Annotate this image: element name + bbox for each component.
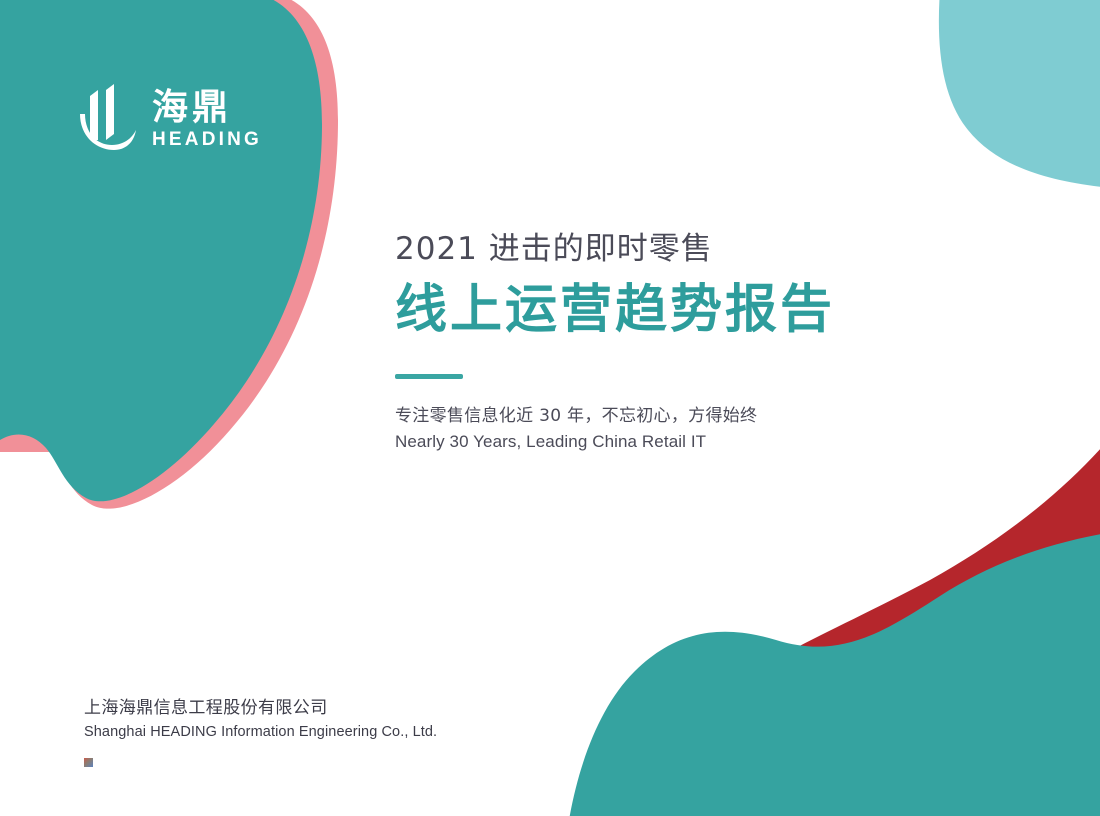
top-right-light-teal-blob: [939, 0, 1100, 190]
company-name-chinese: 上海海鼎信息工程股份有限公司: [84, 696, 604, 721]
slide-eyebrow: 2021 进击的即时零售: [395, 228, 955, 270]
bottom-right-teal-blob: [568, 528, 1100, 816]
accent-rule: [395, 374, 463, 379]
logo-chinese-name: 海鼎: [152, 88, 232, 128]
brand-logo: 海鼎 HEADING: [76, 72, 256, 164]
cover-slide: 海鼎 HEADING 2021 进击的即时零售 线上运营趋势报告 专注零售信息化…: [0, 0, 1100, 816]
logo-english-name: HEADING: [152, 129, 262, 151]
logo-wordmark: 海鼎 HEADING: [152, 86, 262, 151]
tagline-chinese: 专注零售信息化近 30 年，不忘初心，方得始终: [395, 403, 955, 429]
bottom-right-red-blob: [616, 400, 1100, 816]
heading-logomark-icon: [76, 84, 138, 152]
company-name-english: Shanghai HEADING Information Engineering…: [84, 721, 604, 743]
title-block: 2021 进击的即时零售 线上运营趋势报告 专注零售信息化近 30 年，不忘初心…: [395, 228, 955, 455]
slide-headline: 线上运营趋势报告: [395, 278, 955, 342]
footer-block: 上海海鼎信息工程股份有限公司 Shanghai HEADING Informat…: [84, 696, 604, 743]
tagline-english: Nearly 30 Years, Leading China Retail IT: [395, 429, 955, 455]
broken-image-placeholder-icon: [84, 758, 93, 767]
